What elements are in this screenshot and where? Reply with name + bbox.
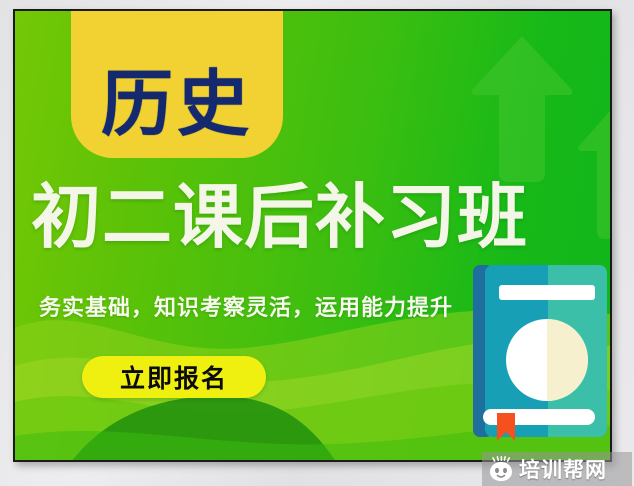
watermark: 培训帮网 — [482, 452, 632, 486]
course-promo-banner: 历史 初二课后补习班 务实基础，知识考察灵活，运用能力提升 立即报名 — [13, 9, 612, 462]
book-icon — [471, 263, 609, 441]
enroll-now-button[interactable]: 立即报名 — [82, 356, 266, 398]
watermark-text: 培训帮网 — [519, 454, 607, 484]
enroll-now-button-label: 立即报名 — [120, 359, 228, 395]
sun-face-logo-icon — [488, 456, 514, 482]
subject-badge: 历史 — [71, 9, 283, 158]
subtitle-text: 务实基础，知识考察灵活，运用能力提升 — [39, 290, 453, 322]
up-arrow-icon-large — [467, 32, 577, 187]
subject-badge-label: 历史 — [101, 68, 253, 158]
page-title: 初二课后补习班 — [31, 182, 611, 252]
